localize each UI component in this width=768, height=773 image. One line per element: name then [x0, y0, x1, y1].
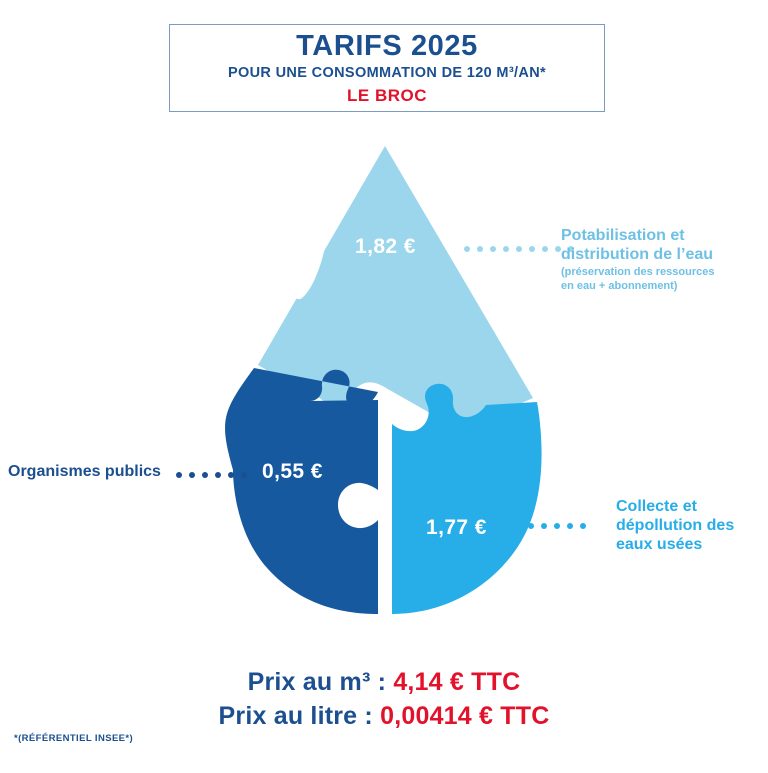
leader-dots-potabilisation	[464, 246, 574, 252]
price-summary: Prix au m³ : 4,14 € TTC Prix au litre : …	[0, 666, 768, 734]
callout-organismes-line1: Organismes publics	[8, 463, 161, 480]
price-per-m3-value: 4,14 € TTC	[393, 668, 520, 696]
value-potabilisation: 1,82 €	[355, 235, 416, 259]
price-per-m3: Prix au m³ : 4,14 € TTC	[0, 666, 768, 700]
callout-potabilisation: Potabilisation et distribution de l’eau …	[561, 226, 761, 294]
value-collecte: 1,77 €	[426, 516, 487, 540]
drop-svg	[0, 0, 768, 768]
price-per-m3-label: Prix au m³ :	[248, 668, 394, 696]
segment-organismes[interactable]	[225, 368, 378, 614]
callout-potabilisation-line1: Potabilisation et	[561, 227, 685, 244]
callout-potabilisation-line2: distribution de l’eau	[561, 246, 713, 263]
callout-potabilisation-sub1: (préservation des ressources	[561, 266, 714, 278]
water-drop-chart: 1,82 € 0,55 € 1,77 €	[0, 0, 768, 768]
callout-collecte-line3: eaux usées	[616, 536, 702, 553]
value-organismes: 0,55 €	[262, 460, 323, 484]
callout-organismes: Organismes publics	[8, 462, 168, 481]
callout-collecte-line1: Collecte et	[616, 498, 697, 515]
segment-collecte[interactable]	[392, 384, 542, 614]
leader-dots-organismes	[176, 472, 247, 478]
price-per-litre-label: Prix au litre :	[219, 702, 381, 730]
infographic-canvas: TARIFS 2025 POUR UNE CONSOMMATION DE 120…	[0, 0, 768, 768]
leader-dots-collecte	[528, 523, 586, 529]
callout-collecte-line2: dépollution des	[616, 517, 734, 534]
price-per-litre: Prix au litre : 0,00414 € TTC	[0, 700, 768, 734]
callout-potabilisation-sub2: en eau + abonnement)	[561, 280, 677, 292]
callout-collecte: Collecte et dépollution des eaux usées	[616, 497, 766, 555]
footnote: *(RÉFÉRENTIEL INSEE*)	[14, 733, 133, 744]
price-per-litre-value: 0,00414 € TTC	[380, 702, 549, 730]
